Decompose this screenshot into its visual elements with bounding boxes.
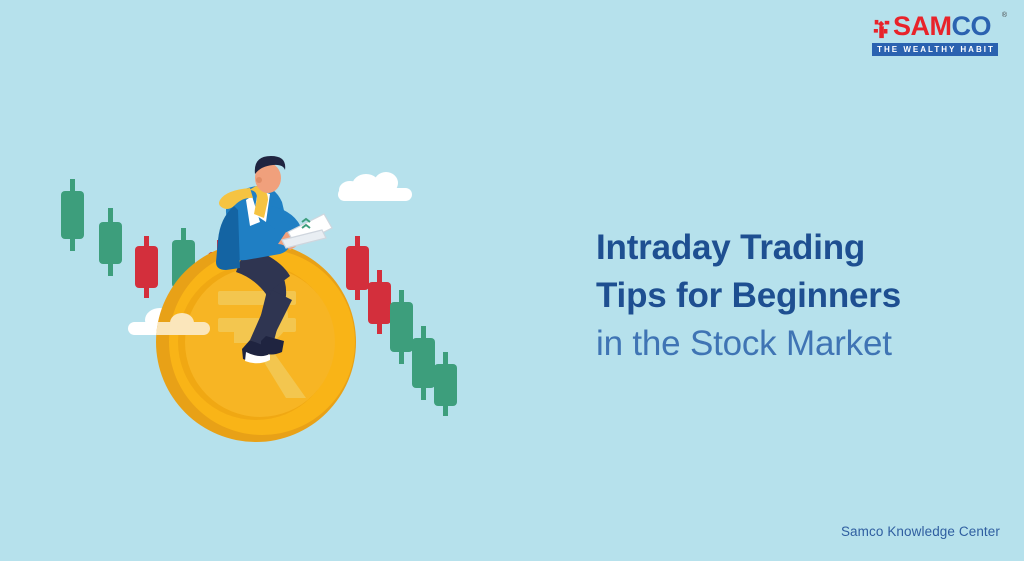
logo-wordmark: SAMCO ® <box>872 14 1000 40</box>
cloud-right-icon <box>338 172 412 201</box>
candle-bull-1 <box>61 179 84 251</box>
logo-text-sam: SAM <box>893 13 952 40</box>
headline-line-2: Tips for Beginners <box>596 272 996 320</box>
candlestick-chart-right <box>346 236 457 416</box>
samco-swastika-icon <box>872 18 892 40</box>
footer-credit: Samco Knowledge Center <box>841 524 1000 539</box>
candle-bull-4 <box>390 290 413 364</box>
candle-bull-5 <box>412 326 435 400</box>
samco-logo[interactable]: SAMCO ® THE WEALTHY HABIT <box>872 14 1000 58</box>
candle-bull-6 <box>434 352 457 416</box>
headline-block: Intraday Trading Tips for Beginners in t… <box>596 224 996 368</box>
candle-bear-4 <box>368 270 391 334</box>
candle-bear-3 <box>346 236 369 300</box>
banner-canvas: SAMCO ® THE WEALTHY HABIT Intraday Tradi… <box>0 0 1024 561</box>
headline-line-1: Intraday Trading <box>596 224 996 272</box>
candle-bull-2 <box>99 208 122 276</box>
logo-tagline: THE WEALTHY HABIT <box>872 43 998 56</box>
hero-illustration <box>0 0 560 561</box>
candle-bear-1 <box>135 236 158 298</box>
logo-text-co: CO <box>952 13 992 40</box>
registered-trademark-icon: ® <box>1002 12 1007 19</box>
headline-line-3: in the Stock Market <box>596 320 996 368</box>
